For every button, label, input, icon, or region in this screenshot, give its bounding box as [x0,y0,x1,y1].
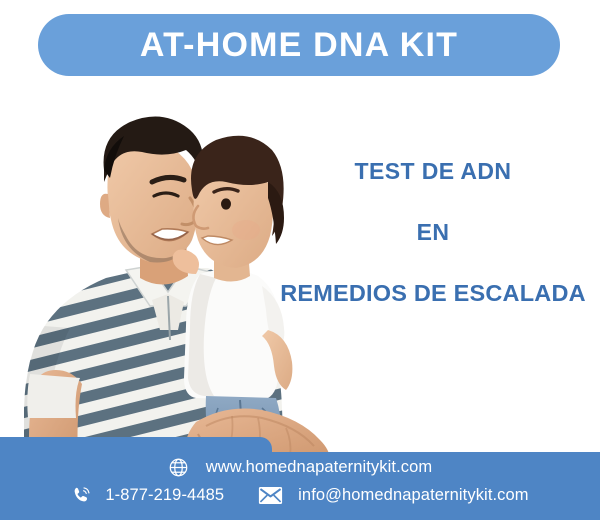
envelope-icon [258,486,283,505]
website-text: www.homednapaternitykit.com [206,458,432,477]
footer-row-contact: 1-877-219-4485 info@homednapaternitykit.… [0,485,600,506]
headline-line-3: REMEDIOS DE ESCALADA [272,282,594,306]
phone-item[interactable]: 1-877-219-4485 [71,485,224,506]
globe-icon [168,457,189,478]
footer-row-website: www.homednapaternitykit.com [0,457,600,478]
email-item[interactable]: info@homednapaternitykit.com [258,486,529,505]
header-pill: AT-HOME DNA KIT [38,14,560,76]
phone-text: 1-877-219-4485 [105,486,224,505]
headline-line-1: TEST DE ADN [272,160,594,183]
footer-contact-rows: www.homednapaternitykit.com 1-877-219-44… [0,452,600,520]
promo-banner: AT-HOME DNA KIT [0,0,600,520]
email-text: info@homednapaternitykit.com [298,486,529,505]
headline-line-2: EN [272,221,594,244]
page-title: AT-HOME DNA KIT [140,28,458,62]
headline-block: TEST DE ADN EN REMEDIOS DE ESCALADA [272,160,594,306]
phone-icon [71,485,92,506]
website-item[interactable]: www.homednapaternitykit.com [168,457,432,478]
